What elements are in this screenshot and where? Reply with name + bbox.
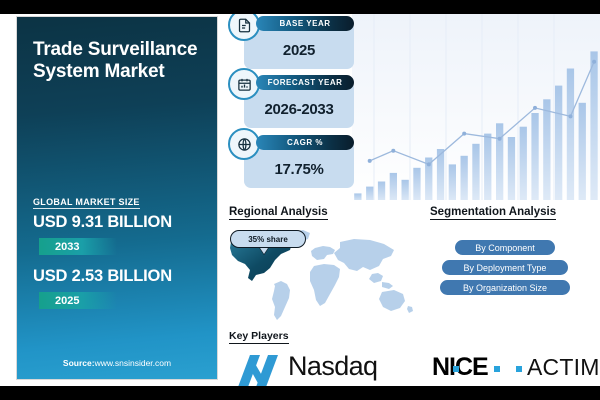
source-prefix: Source: [63,358,95,368]
chart-bar [496,123,503,200]
map-share-tooltip[interactable]: 35% share [230,230,306,248]
source-attribution: Source:www.snsinsider.com [17,358,217,368]
chart-bar [413,168,420,200]
segmentation-analysis-title: Segmentation Analysis [430,206,556,220]
chart-trend-point [368,159,372,163]
chart-bar [390,173,397,200]
chart-trend-point [592,60,596,64]
stat-value-forecast-year: 2026-2033 [244,101,354,118]
chart-bar [508,137,515,200]
decorative-growth-chart [352,14,600,200]
stat-value-base-year: 2025 [244,42,354,59]
nasdaq-logo-text: Nasdaq [288,351,377,382]
segment-pill-by-deployment-type[interactable]: By Deployment Type [442,260,568,275]
segment-pill-by-organization-size[interactable]: By Organization Size [440,280,570,295]
stat-card-cagr: CAGR % 17.75% [244,141,354,188]
infographic-canvas: Trade Surveillance System Market GLOBAL … [0,14,600,386]
page-title: Trade Surveillance System Market [33,39,213,83]
chart-bar [366,187,373,200]
nice-logo-text: NICE [432,353,488,382]
chart-trend-point [462,132,466,136]
chart-bar [472,144,479,200]
chart-trend-point [533,106,537,110]
chart-bar [520,127,527,200]
segment-pill-by-component[interactable]: By Component [455,240,555,255]
stat-card-forecast-year: FORECAST YEAR 2026-2033 [244,81,354,128]
chart-bar [590,51,597,200]
key-players-title: Key Players [229,330,289,344]
infographic-frame: Trade Surveillance System Market GLOBAL … [0,0,600,400]
chart-bar [555,86,562,200]
chart-bar [378,182,385,201]
stat-value-cagr: 17.75% [244,161,354,178]
chart-bar [484,134,491,200]
chart-trend-point [569,114,573,118]
global-market-size-label: GLOBAL MARKET SIZE [33,197,140,209]
nice-separator-dot-1 [453,366,459,372]
regional-analysis-title: Regional Analysis [229,206,328,220]
stat-header-cagr: CAGR % [256,135,354,150]
source-url: www.snsinsider.com [95,358,172,368]
stat-header-forecast-year: FORECAST YEAR [256,75,354,90]
chart-bar [543,99,550,200]
nice-actimize-separator-dot [516,366,522,372]
market-size-2033-year: 2033 [39,238,117,255]
chart-trend-point [391,149,395,153]
market-size-2033-value: USD 9.31 BILLION [33,213,172,232]
growth-chart-svg [352,14,600,200]
chart-bar [579,103,586,200]
report-document-icon [228,14,260,41]
chart-bar [567,69,574,201]
chart-bar [461,156,468,200]
chart-bar [531,113,538,200]
actimize-logo-text: ACTIMIZE [527,354,600,381]
left-title-panel: Trade Surveillance System Market GLOBAL … [16,16,218,380]
nasdaq-logo-mark [234,351,286,386]
key-players-logo-row: Nasdaq NICE ACTIMIZE [232,347,598,386]
stat-header-base-year: BASE YEAR [256,16,354,31]
chart-bar [449,164,456,200]
stat-card-base-year: BASE YEAR 2025 [244,22,354,69]
chart-bar [354,193,361,200]
chart-bar [402,180,409,200]
nice-separator-dot-2 [494,366,500,372]
market-size-2025-value: USD 2.53 BILLION [33,267,172,286]
market-size-2025-year: 2025 [39,292,117,309]
chart-trend-point [498,137,502,141]
chart-trend-point [427,162,431,166]
